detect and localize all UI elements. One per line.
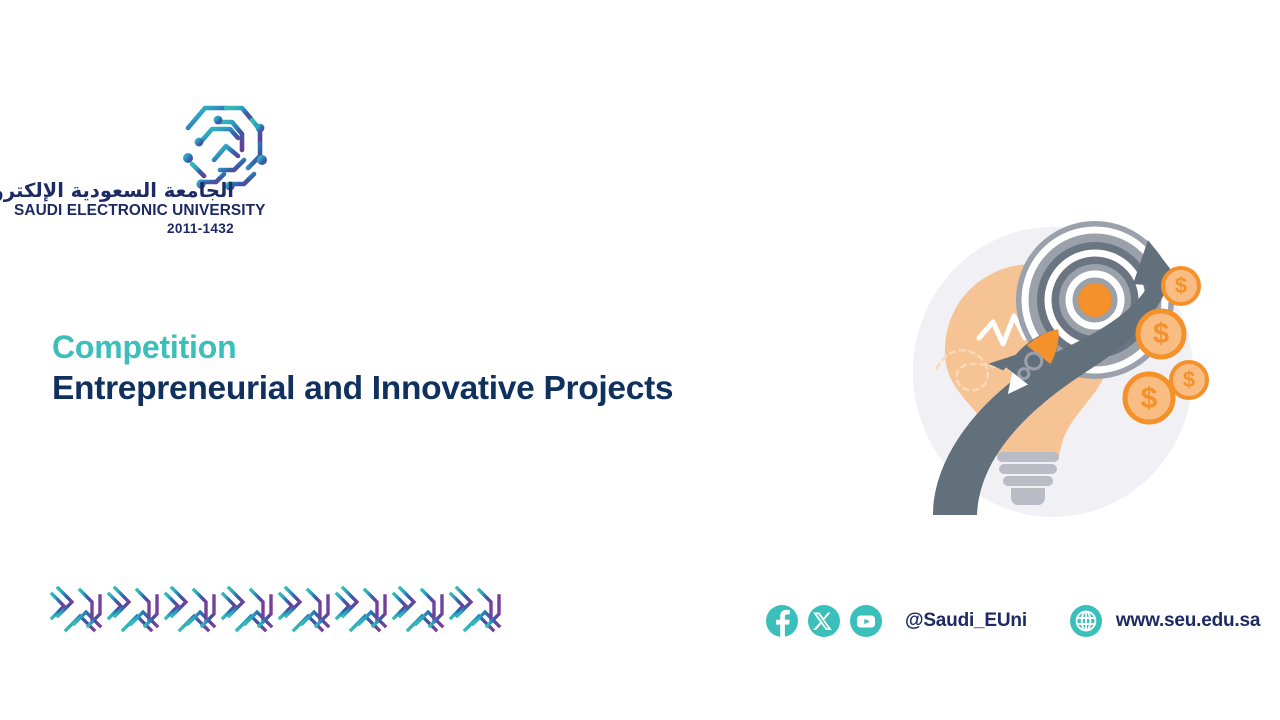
social-links-group: @Saudi_EUni bbox=[766, 605, 1027, 637]
footer-contact-bar: @Saudi_EUni www.seu.edu.sa bbox=[766, 598, 1260, 644]
website-group[interactable]: www.seu.edu.sa bbox=[1070, 605, 1260, 637]
university-name-english: SAUDI ELECTRONIC UNIVERSITY bbox=[14, 202, 234, 220]
target-bullseye bbox=[1078, 283, 1112, 317]
seu-circuit-pattern bbox=[50, 586, 502, 638]
social-handle: @Saudi_EUni bbox=[905, 610, 1027, 632]
youtube-icon[interactable] bbox=[850, 605, 882, 637]
seu-hexagon-circuit-logo-icon bbox=[174, 98, 274, 190]
page-title: Entrepreneurial and Innovative Projects bbox=[52, 371, 812, 407]
x-twitter-icon[interactable] bbox=[808, 605, 840, 637]
university-wordmark: الجامعة السعودية الإلكترونية SAUDI ELECT… bbox=[14, 180, 234, 237]
svg-text:$: $ bbox=[1175, 273, 1187, 298]
university-founding-year: 2011-1432 bbox=[14, 221, 234, 237]
svg-text:$: $ bbox=[1141, 382, 1158, 415]
headline-block: Competition Entrepreneurial and Innovati… bbox=[52, 330, 812, 407]
competition-kicker: Competition bbox=[52, 330, 812, 365]
facebook-icon[interactable] bbox=[766, 605, 798, 637]
globe-icon bbox=[1070, 605, 1102, 637]
svg-text:$: $ bbox=[1183, 367, 1195, 392]
svg-text:$: $ bbox=[1153, 318, 1169, 350]
startup-idea-growth-illustration: $ $ $ $ bbox=[893, 212, 1223, 537]
university-logo: الجامعة السعودية الإلكترونية SAUDI ELECT… bbox=[14, 98, 264, 243]
website-url: www.seu.edu.sa bbox=[1116, 610, 1260, 632]
university-name-arabic: الجامعة السعودية الإلكترونية bbox=[14, 180, 234, 202]
